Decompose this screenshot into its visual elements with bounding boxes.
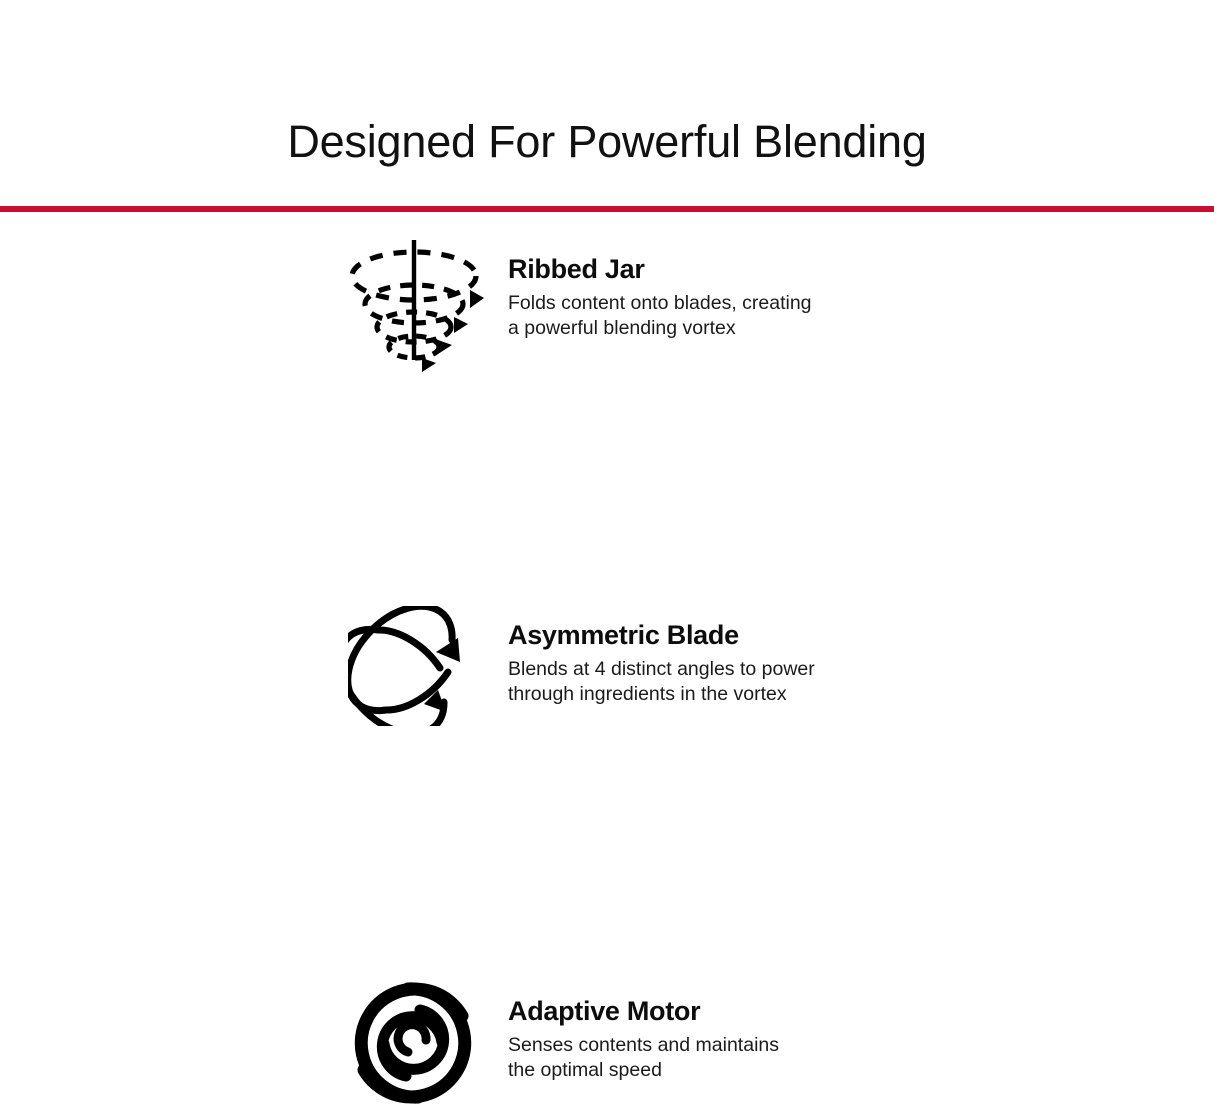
feature-item-adaptive-motor: Adaptive Motor Senses contents and maint…	[0, 608, 1214, 796]
feature-description: Senses contents and maintains the optima…	[508, 1033, 1128, 1083]
feature-heading: Ribbed Jar	[508, 252, 1128, 286]
feature-text-block: Adaptive Motor Senses contents and maint…	[508, 994, 1128, 1083]
feature-text-block: Ribbed Jar Folds content onto blades, cr…	[508, 252, 1128, 341]
red-divider-rule	[0, 206, 1214, 212]
vortex-cone-icon	[344, 232, 486, 374]
feature-list: Ribbed Jar Folds content onto blades, cr…	[0, 232, 1214, 796]
feature-item-ribbed-jar: Ribbed Jar Folds content onto blades, cr…	[0, 232, 1214, 420]
feature-item-asymmetric-blade: Asymmetric Blade Blends at 4 distinct an…	[0, 420, 1214, 608]
feature-description-line-2: a powerful blending vortex	[508, 316, 1128, 341]
feature-description-line-1: Senses contents and maintains	[508, 1033, 1128, 1058]
page-title: Designed For Powerful Blending	[0, 113, 1214, 171]
spiral-motor-icon	[346, 980, 480, 1106]
feature-heading: Adaptive Motor	[508, 994, 1128, 1028]
feature-description-line-2: the optimal speed	[508, 1058, 1128, 1083]
feature-description-line-1: Folds content onto blades, creating	[508, 291, 1128, 316]
feature-description: Folds content onto blades, creating a po…	[508, 291, 1128, 341]
